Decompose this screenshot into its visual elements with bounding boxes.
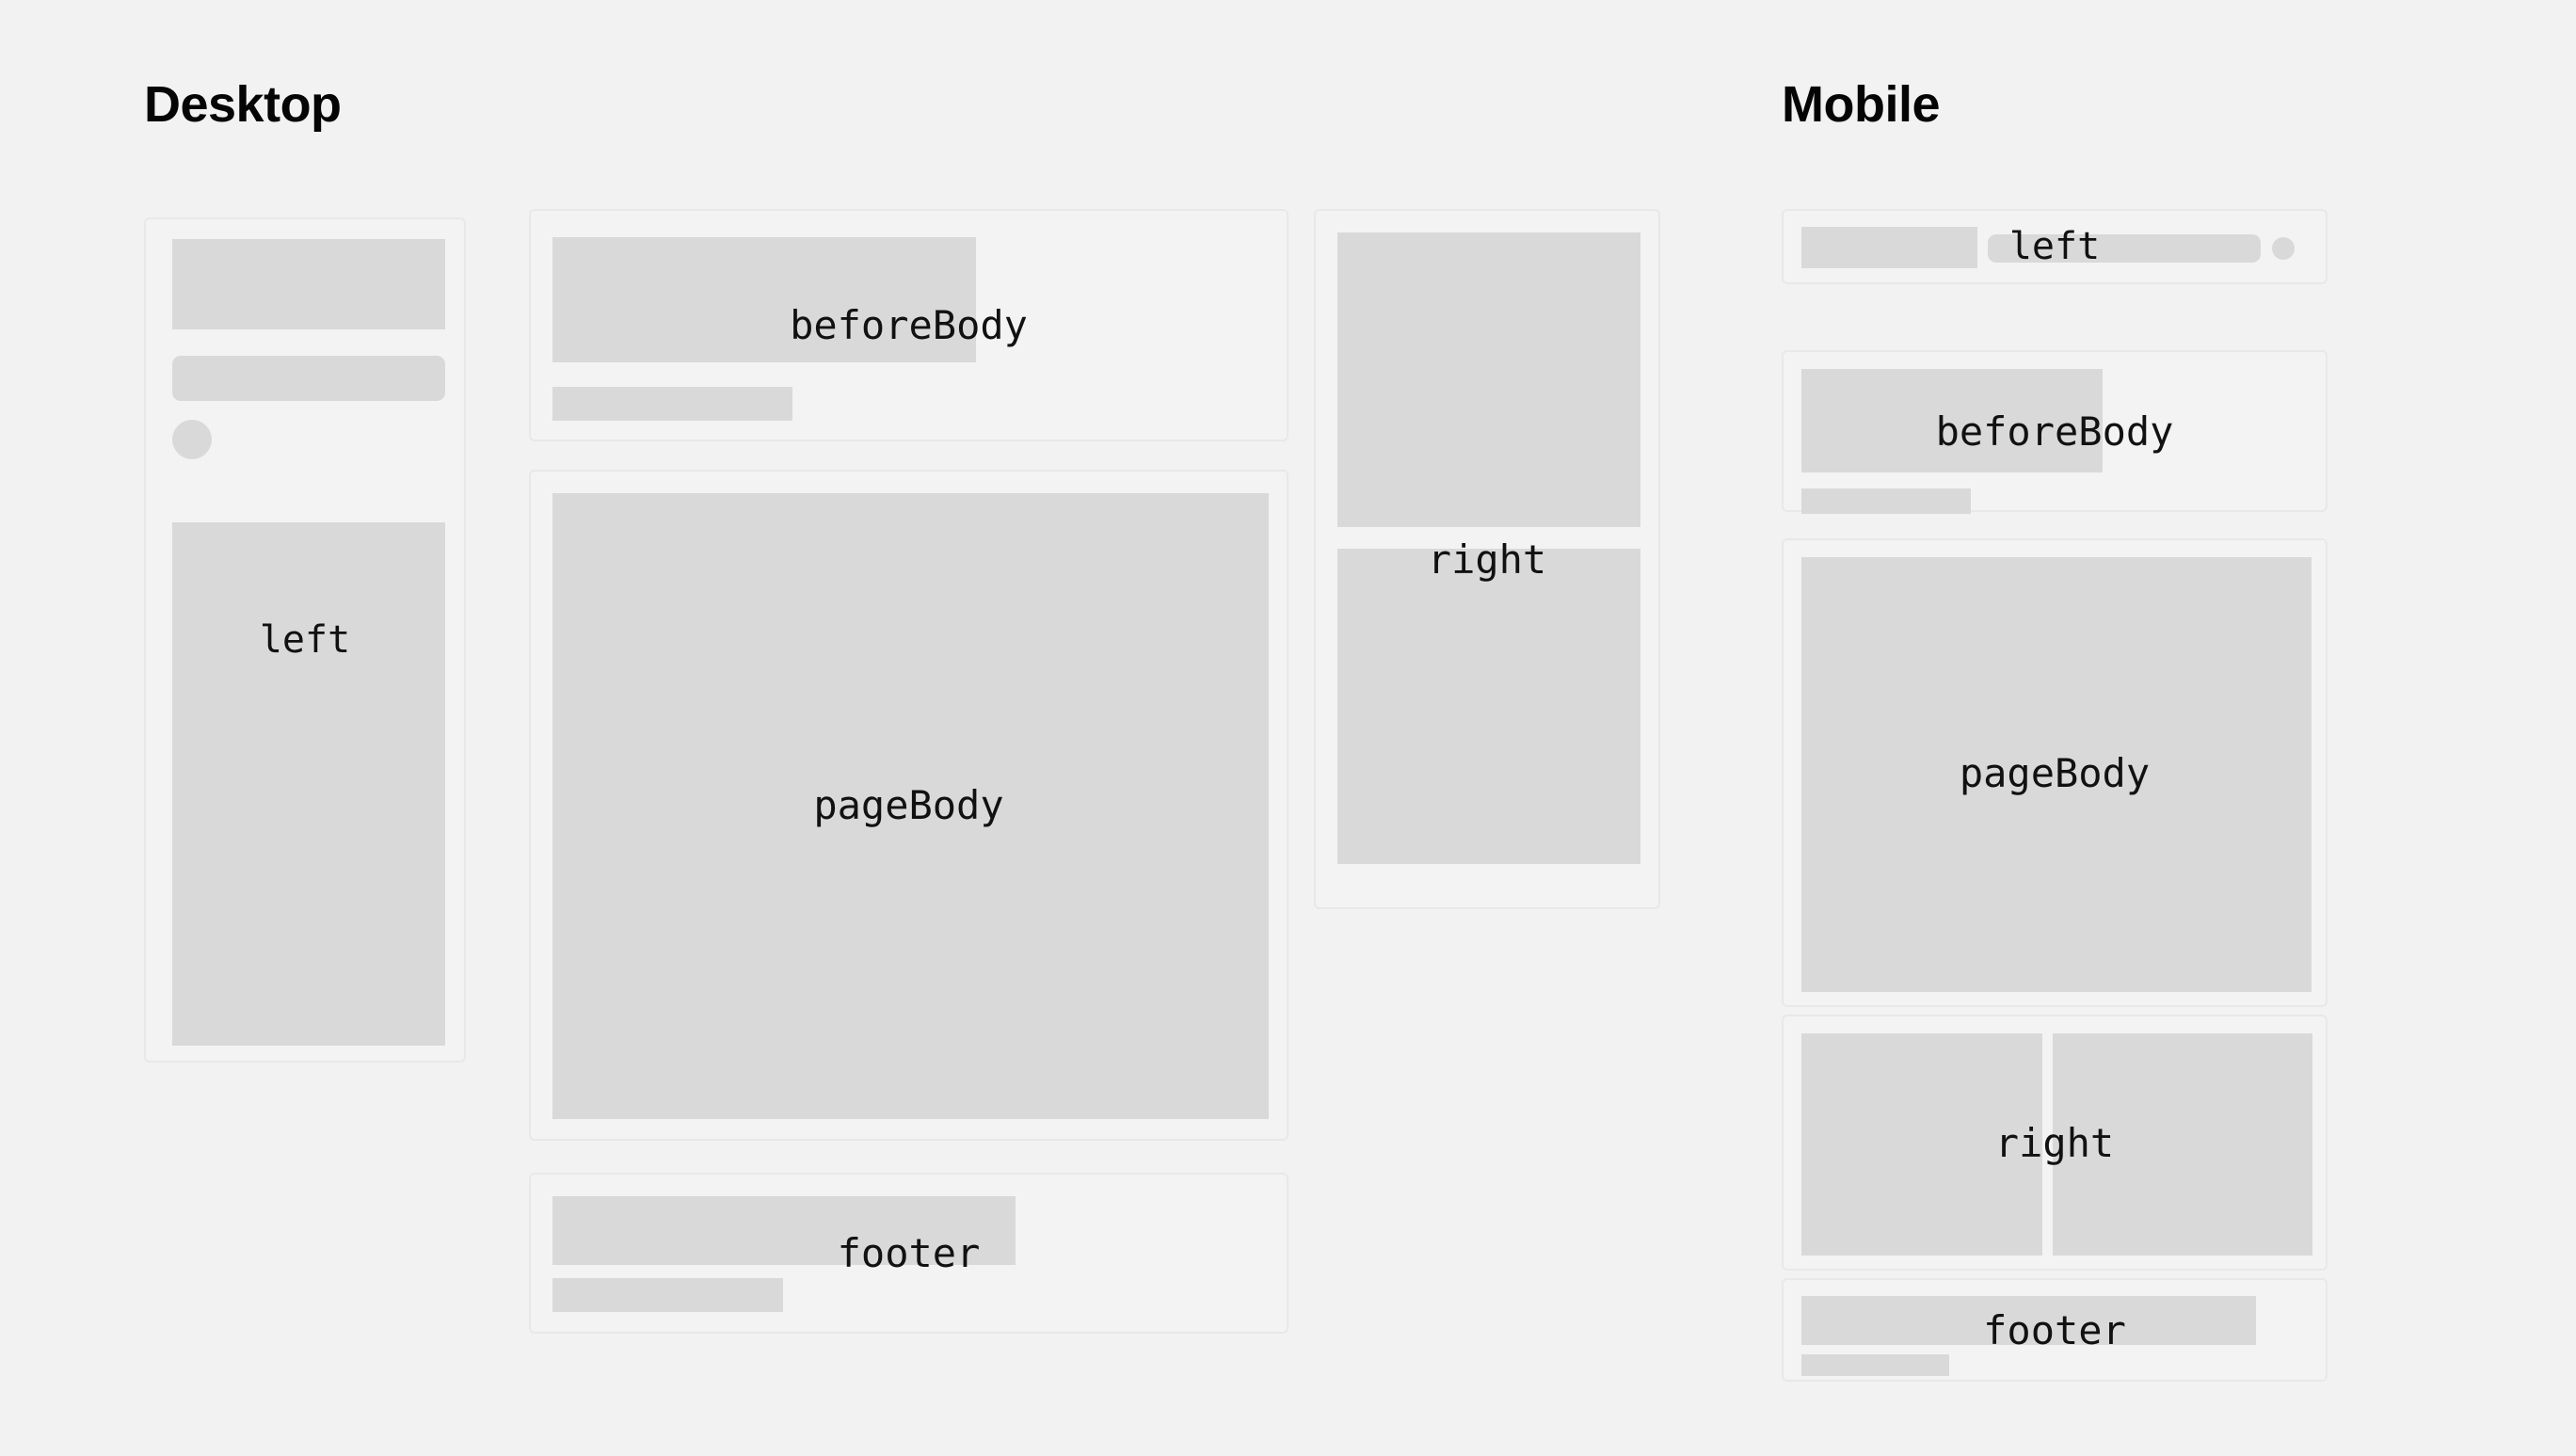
- wireframe-stage: Desktop left beforeBody pageBody right f…: [0, 0, 2576, 1456]
- desktop-right-panel[interactable]: [1314, 209, 1660, 909]
- placeholder-block: [552, 493, 1269, 1119]
- desktop-beforebody-panel[interactable]: [529, 209, 1288, 441]
- placeholder-avatar-circle: [172, 420, 212, 459]
- desktop-pagebody-panel[interactable]: [529, 470, 1288, 1141]
- placeholder-bar: [1801, 488, 1971, 514]
- placeholder-block: [1337, 232, 1640, 527]
- placeholder-bar: [552, 387, 792, 421]
- placeholder-block: [1801, 1296, 2256, 1345]
- mobile-left-panel[interactable]: [1782, 209, 2328, 284]
- placeholder-bar: [1801, 1354, 1949, 1376]
- placeholder-bar: [552, 1278, 783, 1312]
- mobile-right-panel[interactable]: [1782, 1015, 2328, 1271]
- mobile-section-title: Mobile: [1782, 79, 1940, 130]
- placeholder-block: [552, 1196, 1016, 1265]
- placeholder-block: [1801, 227, 1977, 268]
- placeholder-bar: [172, 356, 445, 401]
- placeholder-bar: [1988, 234, 2261, 263]
- desktop-section-title: Desktop: [144, 79, 342, 130]
- placeholder-block: [172, 239, 445, 329]
- mobile-beforebody-panel[interactable]: [1782, 350, 2328, 512]
- placeholder-block: [1801, 369, 2103, 472]
- desktop-left-panel[interactable]: [144, 217, 466, 1063]
- placeholder-block: [1337, 549, 1640, 864]
- placeholder-block: [2053, 1033, 2312, 1256]
- placeholder-block: [172, 522, 445, 1046]
- mobile-footer-panel[interactable]: [1782, 1278, 2328, 1382]
- placeholder-block: [552, 237, 976, 362]
- placeholder-avatar-circle: [2272, 237, 2295, 260]
- mobile-pagebody-panel[interactable]: [1782, 538, 2328, 1007]
- placeholder-block: [1801, 1033, 2042, 1256]
- placeholder-block: [1801, 557, 2312, 992]
- desktop-footer-panel[interactable]: [529, 1173, 1288, 1334]
